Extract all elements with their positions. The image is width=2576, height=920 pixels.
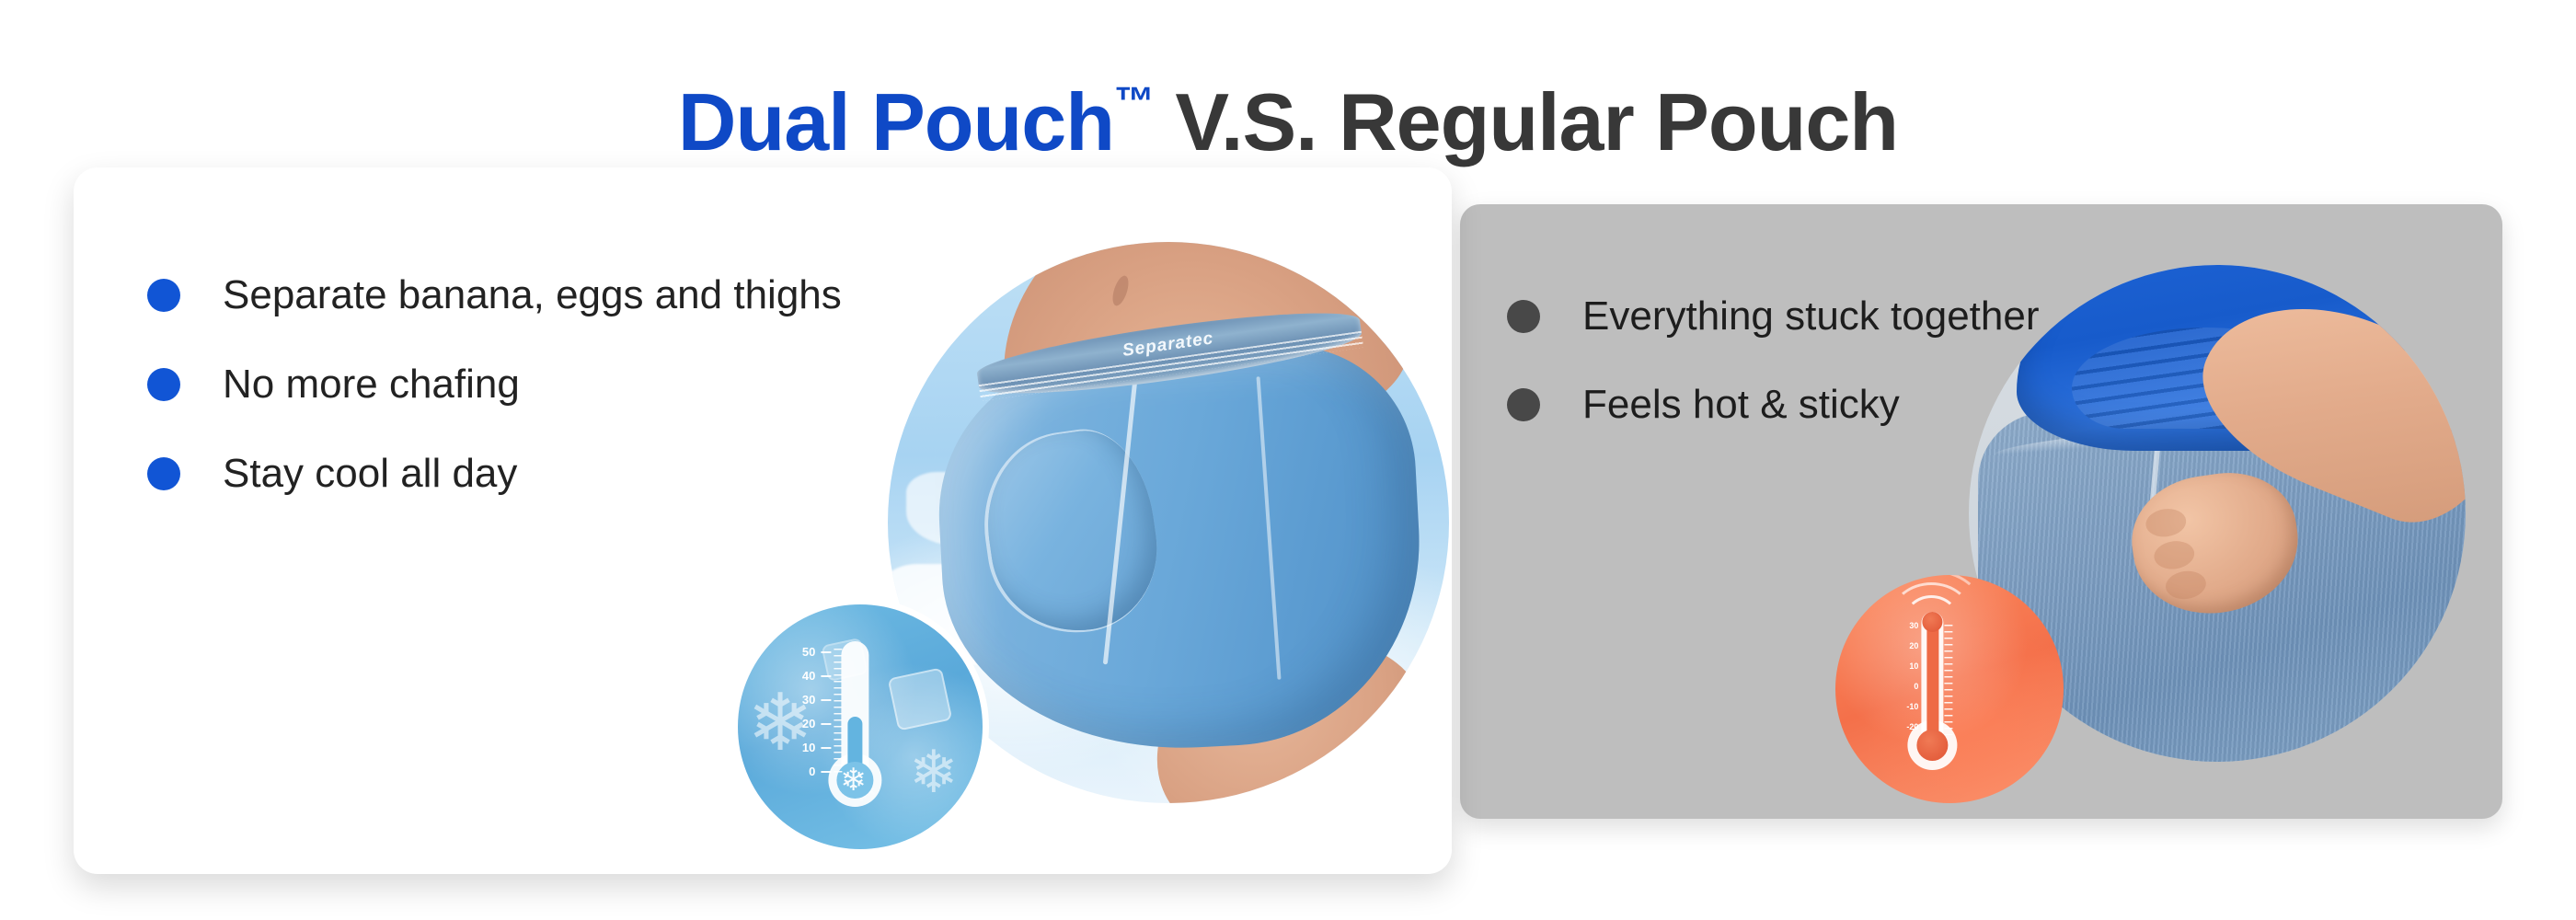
scale-label: 10: [1894, 661, 1918, 671]
scale-dash: [821, 699, 831, 701]
scale-label: 20: [1894, 641, 1918, 650]
bullet-dot-icon: [147, 457, 180, 490]
scale-label: 10: [791, 741, 815, 754]
bullet-label: Separate banana, eggs and thighs: [223, 272, 842, 318]
scale-dash: [821, 747, 831, 749]
scale-label: 40: [791, 669, 815, 683]
bullet-label: Everything stuck together: [1582, 293, 2039, 339]
list-item: Feels hot & sticky: [1507, 361, 2039, 449]
list-item: Separate banana, eggs and thighs: [147, 250, 842, 339]
scale-label: -10: [1894, 702, 1918, 711]
knuckle: [2144, 506, 2188, 539]
thermometer-graphic: ❄ 50 40 30 20 10 0: [824, 641, 889, 834]
scale-label: -20: [1894, 722, 1918, 731]
bullet-label: No more chafing: [223, 362, 520, 408]
knuckle: [2164, 569, 2208, 602]
list-item: Stay cool all day: [147, 429, 842, 518]
scale-dash: [821, 675, 831, 677]
bullet-label: Stay cool all day: [223, 451, 517, 497]
ice-cube-icon: [888, 667, 953, 730]
trademark-symbol: ™: [1114, 79, 1154, 124]
thermometer-top-dot: [1922, 612, 1942, 632]
thermometer-ticks: [1944, 625, 1952, 735]
comparison-banner: Dual Pouch™ V.S. Regular Pouch: [0, 0, 2576, 920]
thermometer-ticks: [834, 649, 842, 777]
hot-thermometer-badge: 30 20 10 0 -10 -20: [1835, 575, 2064, 803]
scale-label: 0: [791, 765, 815, 778]
title-rest: V.S. Regular Pouch: [1154, 76, 1898, 167]
scale-label: 50: [791, 645, 815, 659]
bullet-dot-icon: [147, 279, 180, 312]
scale-dash: [821, 651, 831, 653]
page-title: Dual Pouch™ V.S. Regular Pouch: [0, 78, 2576, 167]
scale-label: 0: [1894, 682, 1918, 691]
bullet-list-regular-pouch: Everything stuck together Feels hot & st…: [1507, 272, 2039, 449]
bullet-dot-icon: [1507, 388, 1540, 421]
list-item: No more chafing: [147, 339, 842, 429]
thermometer-fill: [1926, 617, 1938, 737]
scale-label: 30: [1894, 621, 1918, 630]
snowflake-icon: ❄: [909, 742, 959, 801]
title-brand: Dual Pouch: [678, 76, 1114, 167]
bullet-list-dual-pouch: Separate banana, eggs and thighs No more…: [147, 250, 842, 518]
snowflake-icon: ❄: [840, 765, 867, 796]
bullet-label: Feels hot & sticky: [1582, 382, 1900, 428]
thermometer-graphic: 30 20 10 0 -10 -20: [1909, 601, 1973, 785]
scale-label: 30: [791, 693, 815, 707]
list-item: Everything stuck together: [1507, 272, 2039, 361]
bullet-dot-icon: [1507, 300, 1540, 333]
scale-dash: [821, 723, 831, 725]
cold-thermometer-badge: ❄ ❄ ❄ ❄ 50 40 30 20 10 0: [731, 598, 989, 856]
bullet-dot-icon: [147, 368, 180, 401]
scale-dash: [821, 771, 831, 773]
thermometer-bulb-core: [1916, 730, 1948, 761]
knuckle: [2152, 538, 2196, 571]
scale-label: 20: [791, 717, 815, 730]
